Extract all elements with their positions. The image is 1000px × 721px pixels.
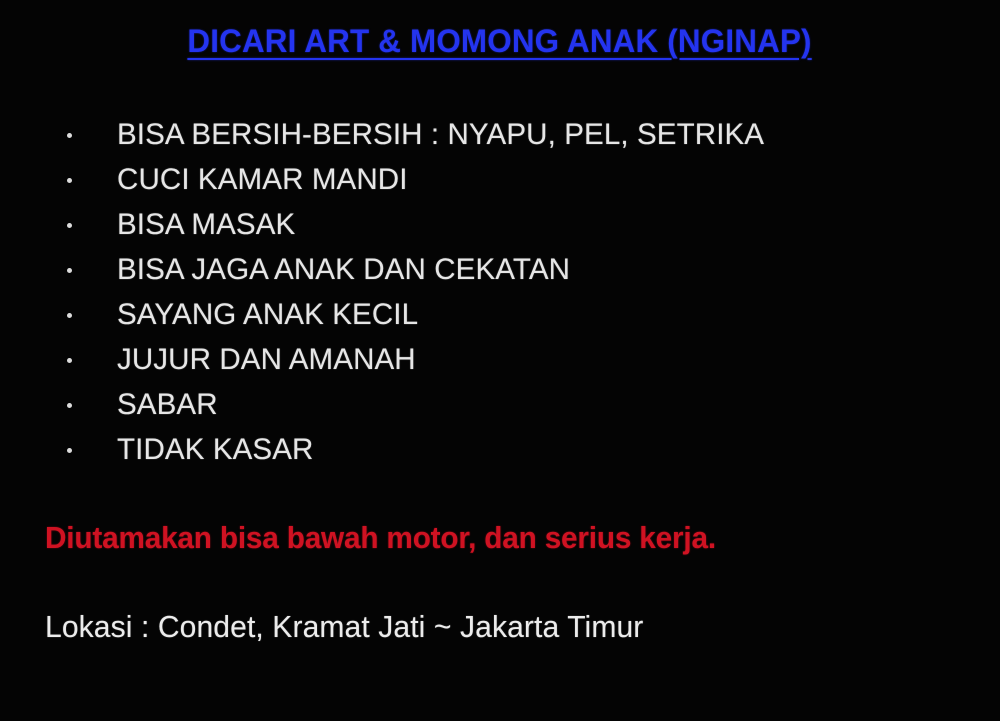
bullet-point-icon	[67, 313, 72, 318]
highlight-note: Diutamakan bisa bawah motor, dan serius …	[45, 518, 716, 558]
bullet-point-icon	[67, 403, 72, 408]
title-container: DICARI ART & MOMONG ANAK (NGINAP)	[0, 21, 1000, 61]
requirement-label: BISA JAGA ANAK DAN CEKATAN	[117, 247, 570, 292]
list-item: BISA BERSIH-BERSIH : NYAPU, PEL, SETRIKA	[0, 112, 1000, 157]
requirement-label: SABAR	[117, 382, 218, 427]
bullet-point-icon	[67, 448, 72, 453]
requirements-list: BISA BERSIH-BERSIH : NYAPU, PEL, SETRIKA…	[0, 112, 1000, 472]
list-item: BISA JAGA ANAK DAN CEKATAN	[0, 247, 1000, 292]
bullet-point-icon	[67, 268, 72, 273]
requirement-label: CUCI KAMAR MANDI	[117, 157, 408, 202]
bullet-point-icon	[67, 178, 72, 183]
requirement-label: TIDAK KASAR	[117, 427, 313, 472]
bullet-point-icon	[67, 358, 72, 363]
list-item: TIDAK KASAR	[0, 427, 1000, 472]
list-item: BISA MASAK	[0, 202, 1000, 247]
requirement-label: SAYANG ANAK KECIL	[117, 292, 418, 337]
requirement-label: BISA MASAK	[117, 202, 295, 247]
list-item: SAYANG ANAK KECIL	[0, 292, 1000, 337]
bullet-point-icon	[67, 133, 72, 138]
requirement-label: BISA BERSIH-BERSIH : NYAPU, PEL, SETRIKA	[117, 112, 764, 157]
job-vacancy-poster: DICARI ART & MOMONG ANAK (NGINAP) BISA B…	[0, 0, 1000, 721]
list-item: SABAR	[0, 382, 1000, 427]
list-item: CUCI KAMAR MANDI	[0, 157, 1000, 202]
location-line: Lokasi : Condet, Kramat Jati ~ Jakarta T…	[45, 607, 643, 647]
page-title: DICARI ART & MOMONG ANAK (NGINAP)	[188, 21, 812, 61]
bullet-point-icon	[67, 223, 72, 228]
list-item: JUJUR DAN AMANAH	[0, 337, 1000, 382]
requirement-label: JUJUR DAN AMANAH	[117, 337, 416, 382]
